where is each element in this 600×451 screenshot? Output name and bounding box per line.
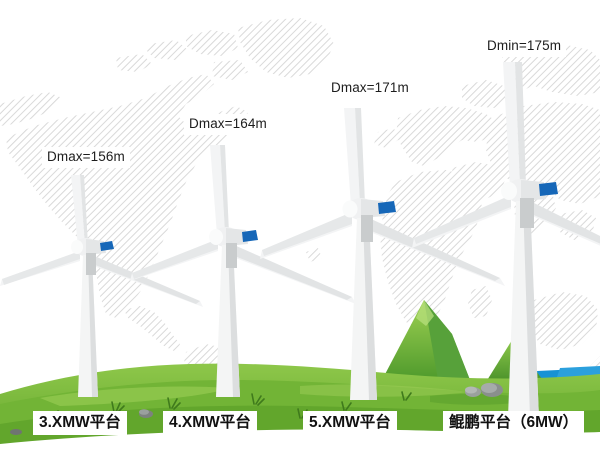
grass-field (0, 364, 600, 451)
turbine-1-nacelle (71, 238, 114, 256)
platform-label-2: 4.XMW平台 (163, 411, 257, 435)
platform-label-4: 鲲鹏平台（6MW） (443, 411, 584, 435)
landscape-background (0, 0, 600, 451)
wind-turbine-comparison-figure: Dmax=156m Dmax=164m (0, 0, 600, 451)
turbine-2-tower (216, 243, 240, 397)
turbine-4 (392, 62, 600, 442)
turbine-3-tower (350, 215, 377, 400)
turbine-3 (260, 108, 510, 438)
turbine-2-blades (130, 145, 356, 304)
world-map-landmasses (0, 18, 600, 451)
turbine-1-tower (78, 253, 98, 397)
mountain-large (382, 300, 470, 380)
turbine-1-callout: Dmax=156m (42, 147, 130, 168)
turbine-3-blades (260, 108, 505, 286)
turbine-4-blades (412, 62, 600, 264)
turbine-3-callout: Dmax=171m (326, 78, 414, 99)
turbine-2-nacelle (209, 227, 258, 247)
platform-label-1: 3.XMW平台 (33, 411, 127, 435)
world-map-background (0, 0, 600, 451)
turbine-4-tower (508, 198, 539, 418)
turbine-4-nacelle (501, 179, 558, 203)
turbine-2-callout: Dmax=164m (184, 114, 272, 135)
turbine-4-callout: Dmin=175m (482, 36, 566, 57)
turbine-1-blades (0, 175, 203, 307)
turbine-1 (0, 175, 210, 435)
turbine-3-nacelle (343, 198, 397, 220)
platform-label-3: 5.XMW平台 (303, 411, 397, 435)
mountain-small (486, 340, 544, 382)
turbine-2 (130, 145, 360, 435)
